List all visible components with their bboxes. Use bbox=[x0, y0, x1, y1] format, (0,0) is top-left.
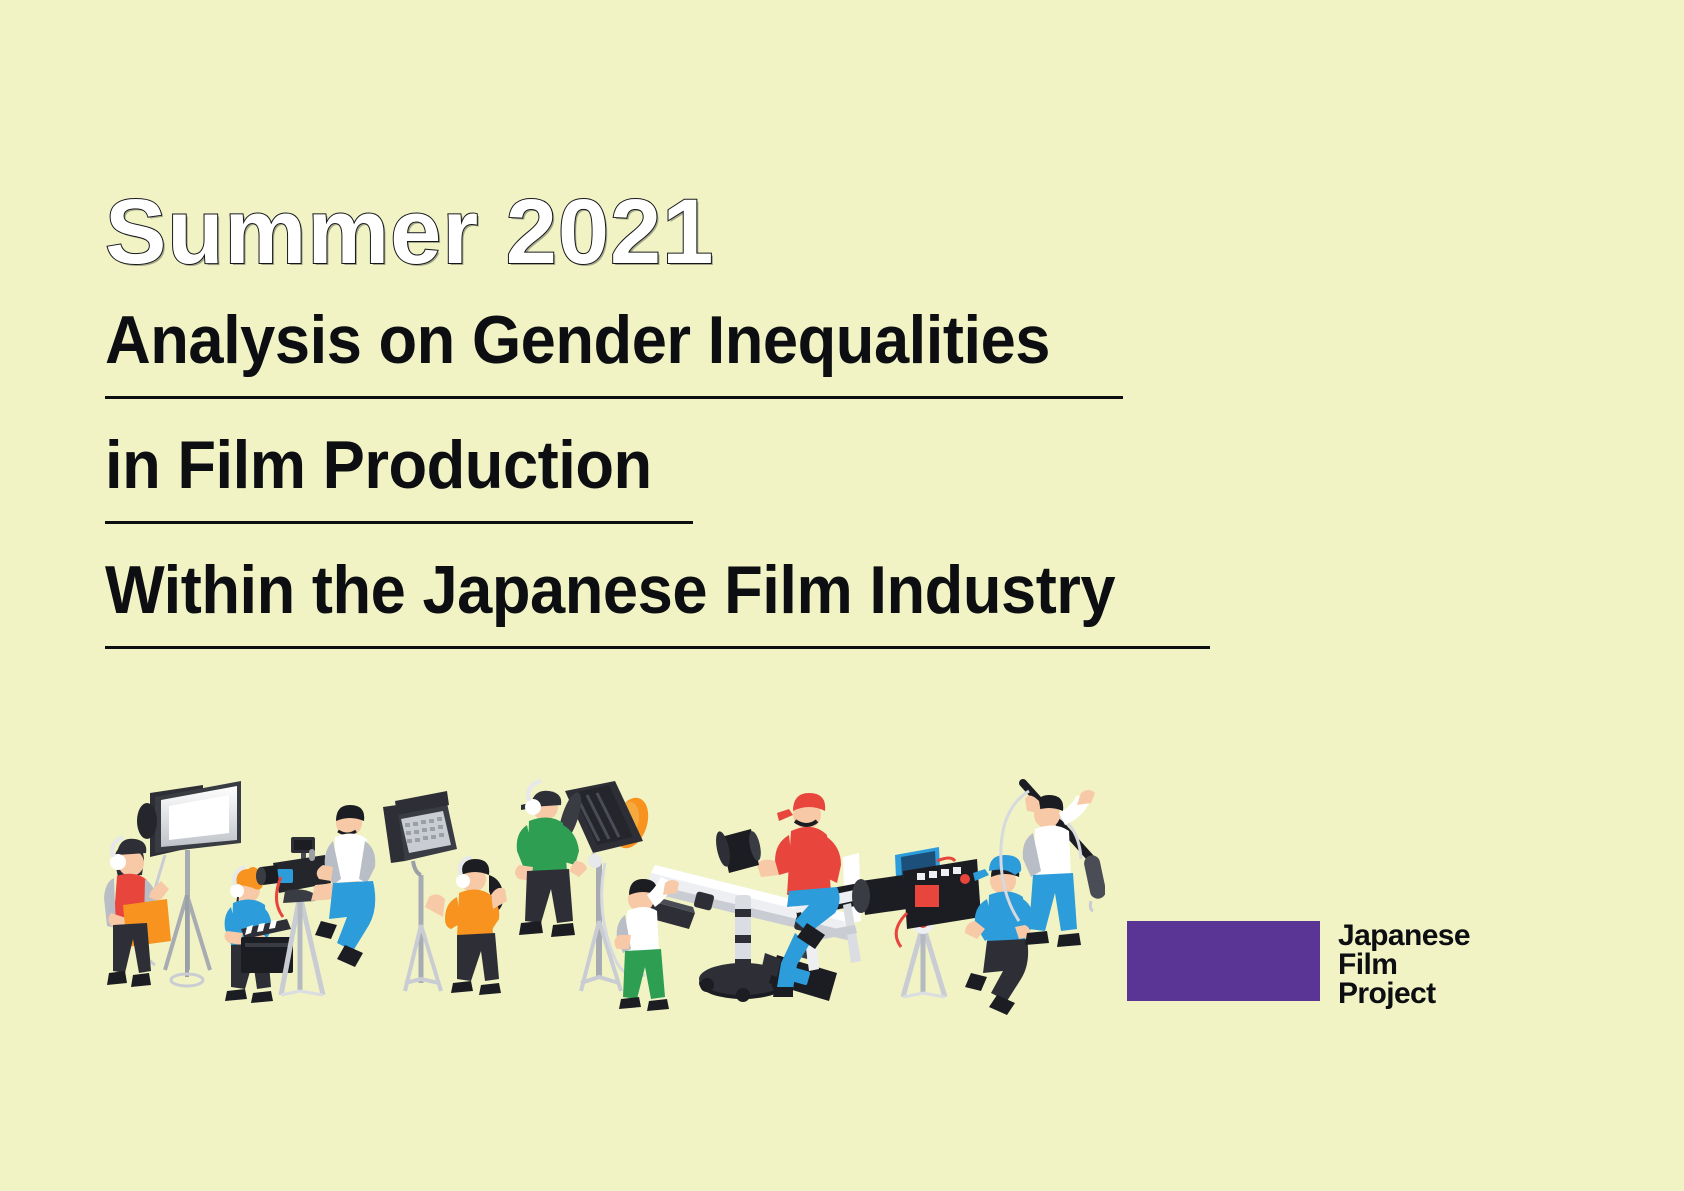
headline-line-3: Within the Japanese Film Industry bbox=[105, 556, 1165, 624]
headline-line-2: in Film Production bbox=[105, 431, 1165, 499]
headline-rule-2 bbox=[105, 521, 693, 524]
softbox-light-rig bbox=[137, 781, 241, 986]
headline-rule-3 bbox=[105, 646, 1210, 649]
led-panel-rig bbox=[383, 791, 457, 991]
figure-led-panel-operator bbox=[383, 791, 507, 995]
film-crew-illustration bbox=[95, 745, 1105, 1020]
logo-word-3: Project bbox=[1338, 979, 1470, 1008]
title-block: Summer 2021 Analysis on Gender Inequalit… bbox=[105, 186, 1245, 649]
film-crew-illustration-svg bbox=[95, 745, 1105, 1020]
figure-cinematographer bbox=[852, 847, 1033, 1015]
eyebrow-summer-2021: Summer 2021 bbox=[105, 186, 1245, 280]
figure-lighting-technician bbox=[104, 781, 241, 987]
logo-mark-purple-block bbox=[1127, 921, 1320, 1001]
megaphone bbox=[713, 829, 763, 873]
poster-canvas: Summer 2021 Analysis on Gender Inequalit… bbox=[0, 0, 1684, 1191]
logo-word-2: Film bbox=[1338, 950, 1470, 979]
logo-word-1: Japanese bbox=[1338, 921, 1470, 950]
cinema-camera bbox=[852, 847, 981, 947]
headline-group: Analysis on Gender Inequalities in Film … bbox=[105, 306, 1245, 649]
logo-wordmark: Japanese Film Project bbox=[1338, 921, 1470, 1008]
japanese-film-project-logo[interactable]: Japanese Film Project bbox=[1127, 921, 1470, 1008]
headline-line-1: Analysis on Gender Inequalities bbox=[105, 306, 1165, 374]
headline-rule-1 bbox=[105, 396, 1123, 399]
